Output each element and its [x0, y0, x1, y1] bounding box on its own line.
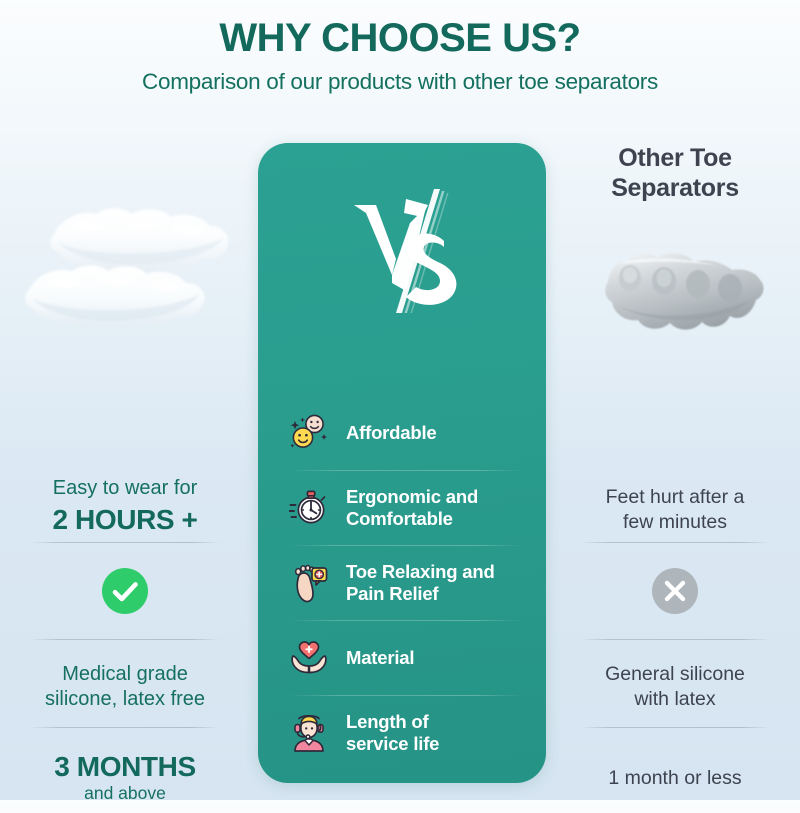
foot-care-icon — [289, 561, 329, 605]
smiley-sparkle-icon — [289, 411, 329, 455]
stat-wear-time: Easy to wear for 2 HOURS + — [0, 470, 250, 542]
feature-row: Ergonomic and Comfortable — [258, 470, 546, 545]
feature-row: Affordable — [258, 395, 546, 470]
divider — [30, 542, 220, 543]
other-product-heading-text: Other Toe Separators — [611, 144, 739, 202]
our-product-stats: Easy to wear for 2 HOURS + Medical grade… — [0, 470, 250, 813]
stat-check-badge — [0, 542, 250, 639]
stat-service-life: 3 MONTHS and above — [0, 727, 250, 813]
stat-wear-time: Feet hurt after a few minutes — [550, 470, 800, 542]
feature-label: Ergonomic and Comfortable — [346, 486, 478, 529]
stat-service-life: 1 month or less — [550, 727, 800, 813]
hands-heart-icon — [289, 636, 329, 680]
divider — [289, 620, 522, 621]
divider — [580, 639, 770, 640]
feature-label: Toe Relaxing and Pain Relief — [346, 561, 495, 604]
check-circle-icon — [102, 568, 148, 614]
stat-material: Medical grade silicone, latex free — [0, 639, 250, 727]
feature-label: Length of service life — [346, 711, 439, 754]
header: WHY CHOOSE US? Comparison of our product… — [0, 0, 800, 95]
divider — [580, 542, 770, 543]
white-toe-separators-image — [14, 182, 244, 342]
other-product-heading: Other Toe Separators — [550, 143, 800, 203]
divider — [30, 639, 220, 640]
divider — [580, 727, 770, 728]
other-product-stats: Feet hurt after a few minutes General si… — [550, 470, 800, 813]
page-subtitle: Comparison of our products with other to… — [0, 68, 800, 95]
support-agent-icon — [289, 711, 329, 755]
feature-row: Length of service life — [258, 695, 546, 770]
page-title: WHY CHOOSE US? — [0, 16, 800, 61]
feature-list: Affordable — [258, 395, 546, 770]
cross-circle-icon — [652, 568, 698, 614]
stat-cross-badge — [550, 542, 800, 639]
vs-logo-mark — [348, 183, 468, 318]
comparison-panel: Affordable — [258, 143, 546, 783]
vs-logo — [258, 183, 546, 318]
gray-toe-separator-image — [590, 238, 780, 360]
divider — [289, 470, 522, 471]
divider — [289, 695, 522, 696]
divider — [289, 545, 522, 546]
feature-row: Material — [258, 620, 546, 695]
stat-material: General silicone with latex — [550, 639, 800, 727]
divider — [30, 727, 220, 728]
feature-row: Toe Relaxing and Pain Relief — [258, 545, 546, 620]
stopwatch-icon — [289, 486, 329, 530]
feature-label: Affordable — [346, 422, 437, 444]
feature-label: Material — [346, 647, 414, 669]
